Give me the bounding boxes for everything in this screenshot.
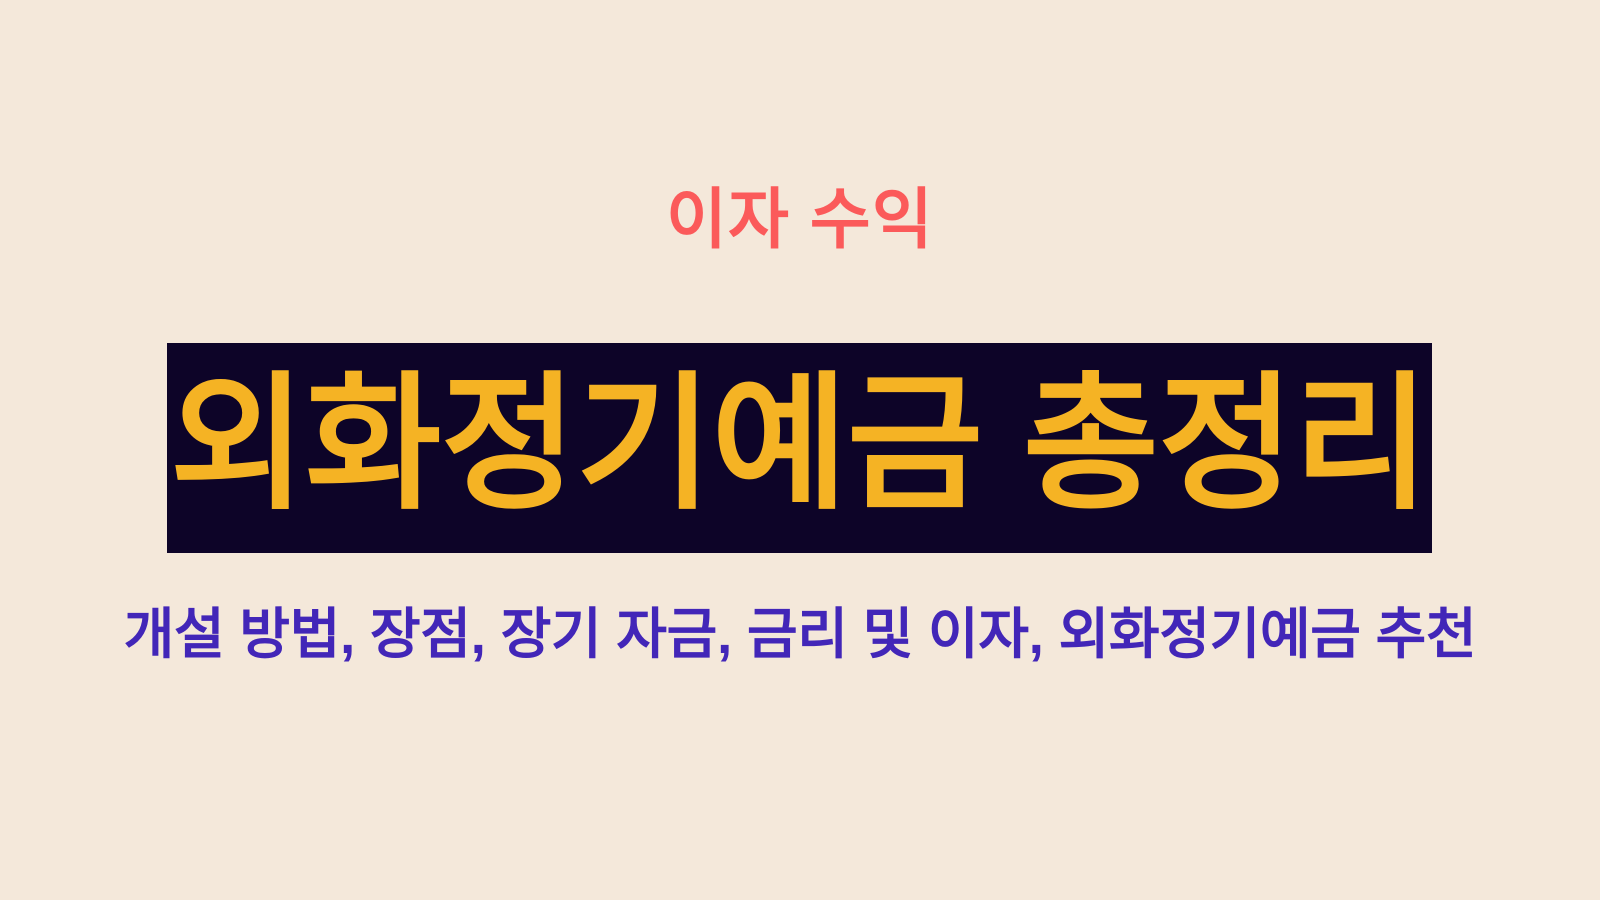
- eyebrow-label: 이자 수익: [0, 186, 1600, 252]
- thumbnail-card: 이자 수익 외화정기예금 총정리 개설 방법, 장점, 장기 자금, 금리 및 …: [0, 0, 1600, 900]
- subtitle-label: 개설 방법, 장점, 장기 자금, 금리 및 이자, 외화정기예금 추천: [0, 604, 1600, 665]
- page-title: 외화정기예금 총정리: [170, 371, 1429, 519]
- title-banner: 외화정기예금 총정리: [167, 343, 1432, 553]
